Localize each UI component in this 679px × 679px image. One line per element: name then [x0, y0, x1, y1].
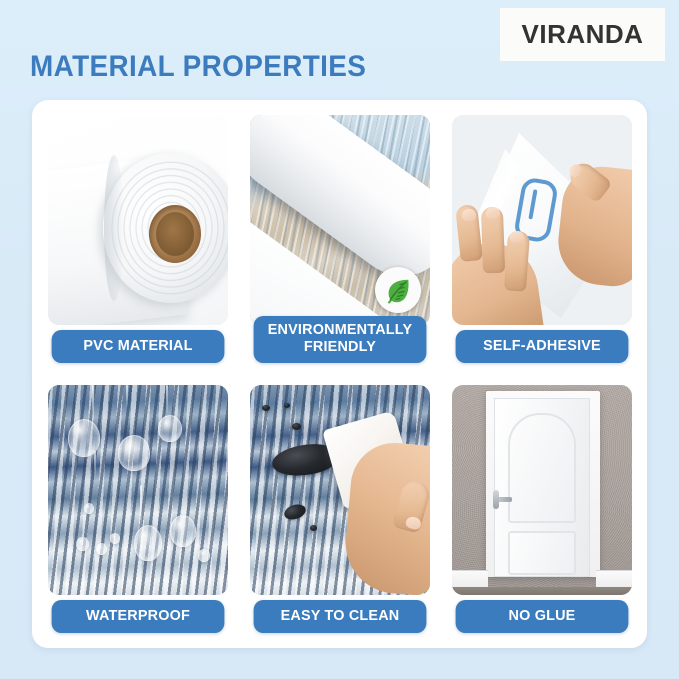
feature-label-line2: FRIENDLY: [304, 338, 376, 355]
easy-to-clean-image: [250, 385, 430, 595]
feature-label-no-glue: NO GLUE: [456, 600, 629, 633]
feature-label-waterproof: WATERPROOF: [52, 600, 225, 633]
page-title: MATERIAL PROPERTIES: [30, 50, 366, 84]
feature-card-self-adhesive[interactable]: SELF-ADHESIVE: [452, 115, 632, 363]
eco-roll-image: [250, 115, 430, 325]
leaf-icon: [383, 275, 413, 305]
brand-logo: VIRANDA: [500, 8, 665, 61]
feature-card-environmentally-friendly[interactable]: ENVIRONMENTALLY FRIENDLY: [250, 115, 430, 363]
feature-label-easy-to-clean: EASY TO CLEAN: [254, 600, 427, 633]
self-adhesive-image: [452, 115, 632, 325]
no-glue-door-image: [452, 385, 632, 595]
feature-card-waterproof[interactable]: WATERPROOF: [48, 385, 228, 633]
waterproof-image: [48, 385, 228, 595]
infographic-page: VIRANDA MATERIAL PROPERTIES PVC MATERIAL: [0, 0, 679, 679]
feature-label-line1: ENVIRONMENTALLY: [268, 321, 412, 338]
feature-label-pvc-material: PVC MATERIAL: [52, 330, 225, 363]
eco-leaf-badge: [375, 267, 421, 313]
feature-label-self-adhesive: SELF-ADHESIVE: [456, 330, 629, 363]
brand-logo-text: VIRANDA: [522, 19, 644, 50]
feature-card-pvc-material[interactable]: PVC MATERIAL: [48, 115, 228, 363]
feature-card-no-glue[interactable]: NO GLUE: [452, 385, 632, 633]
feature-card-easy-to-clean[interactable]: EASY TO CLEAN: [250, 385, 430, 633]
feature-label-environmentally-friendly: ENVIRONMENTALLY FRIENDLY: [254, 316, 427, 363]
feature-grid: PVC MATERIAL: [48, 115, 632, 633]
pvc-roll-image: [48, 115, 228, 325]
